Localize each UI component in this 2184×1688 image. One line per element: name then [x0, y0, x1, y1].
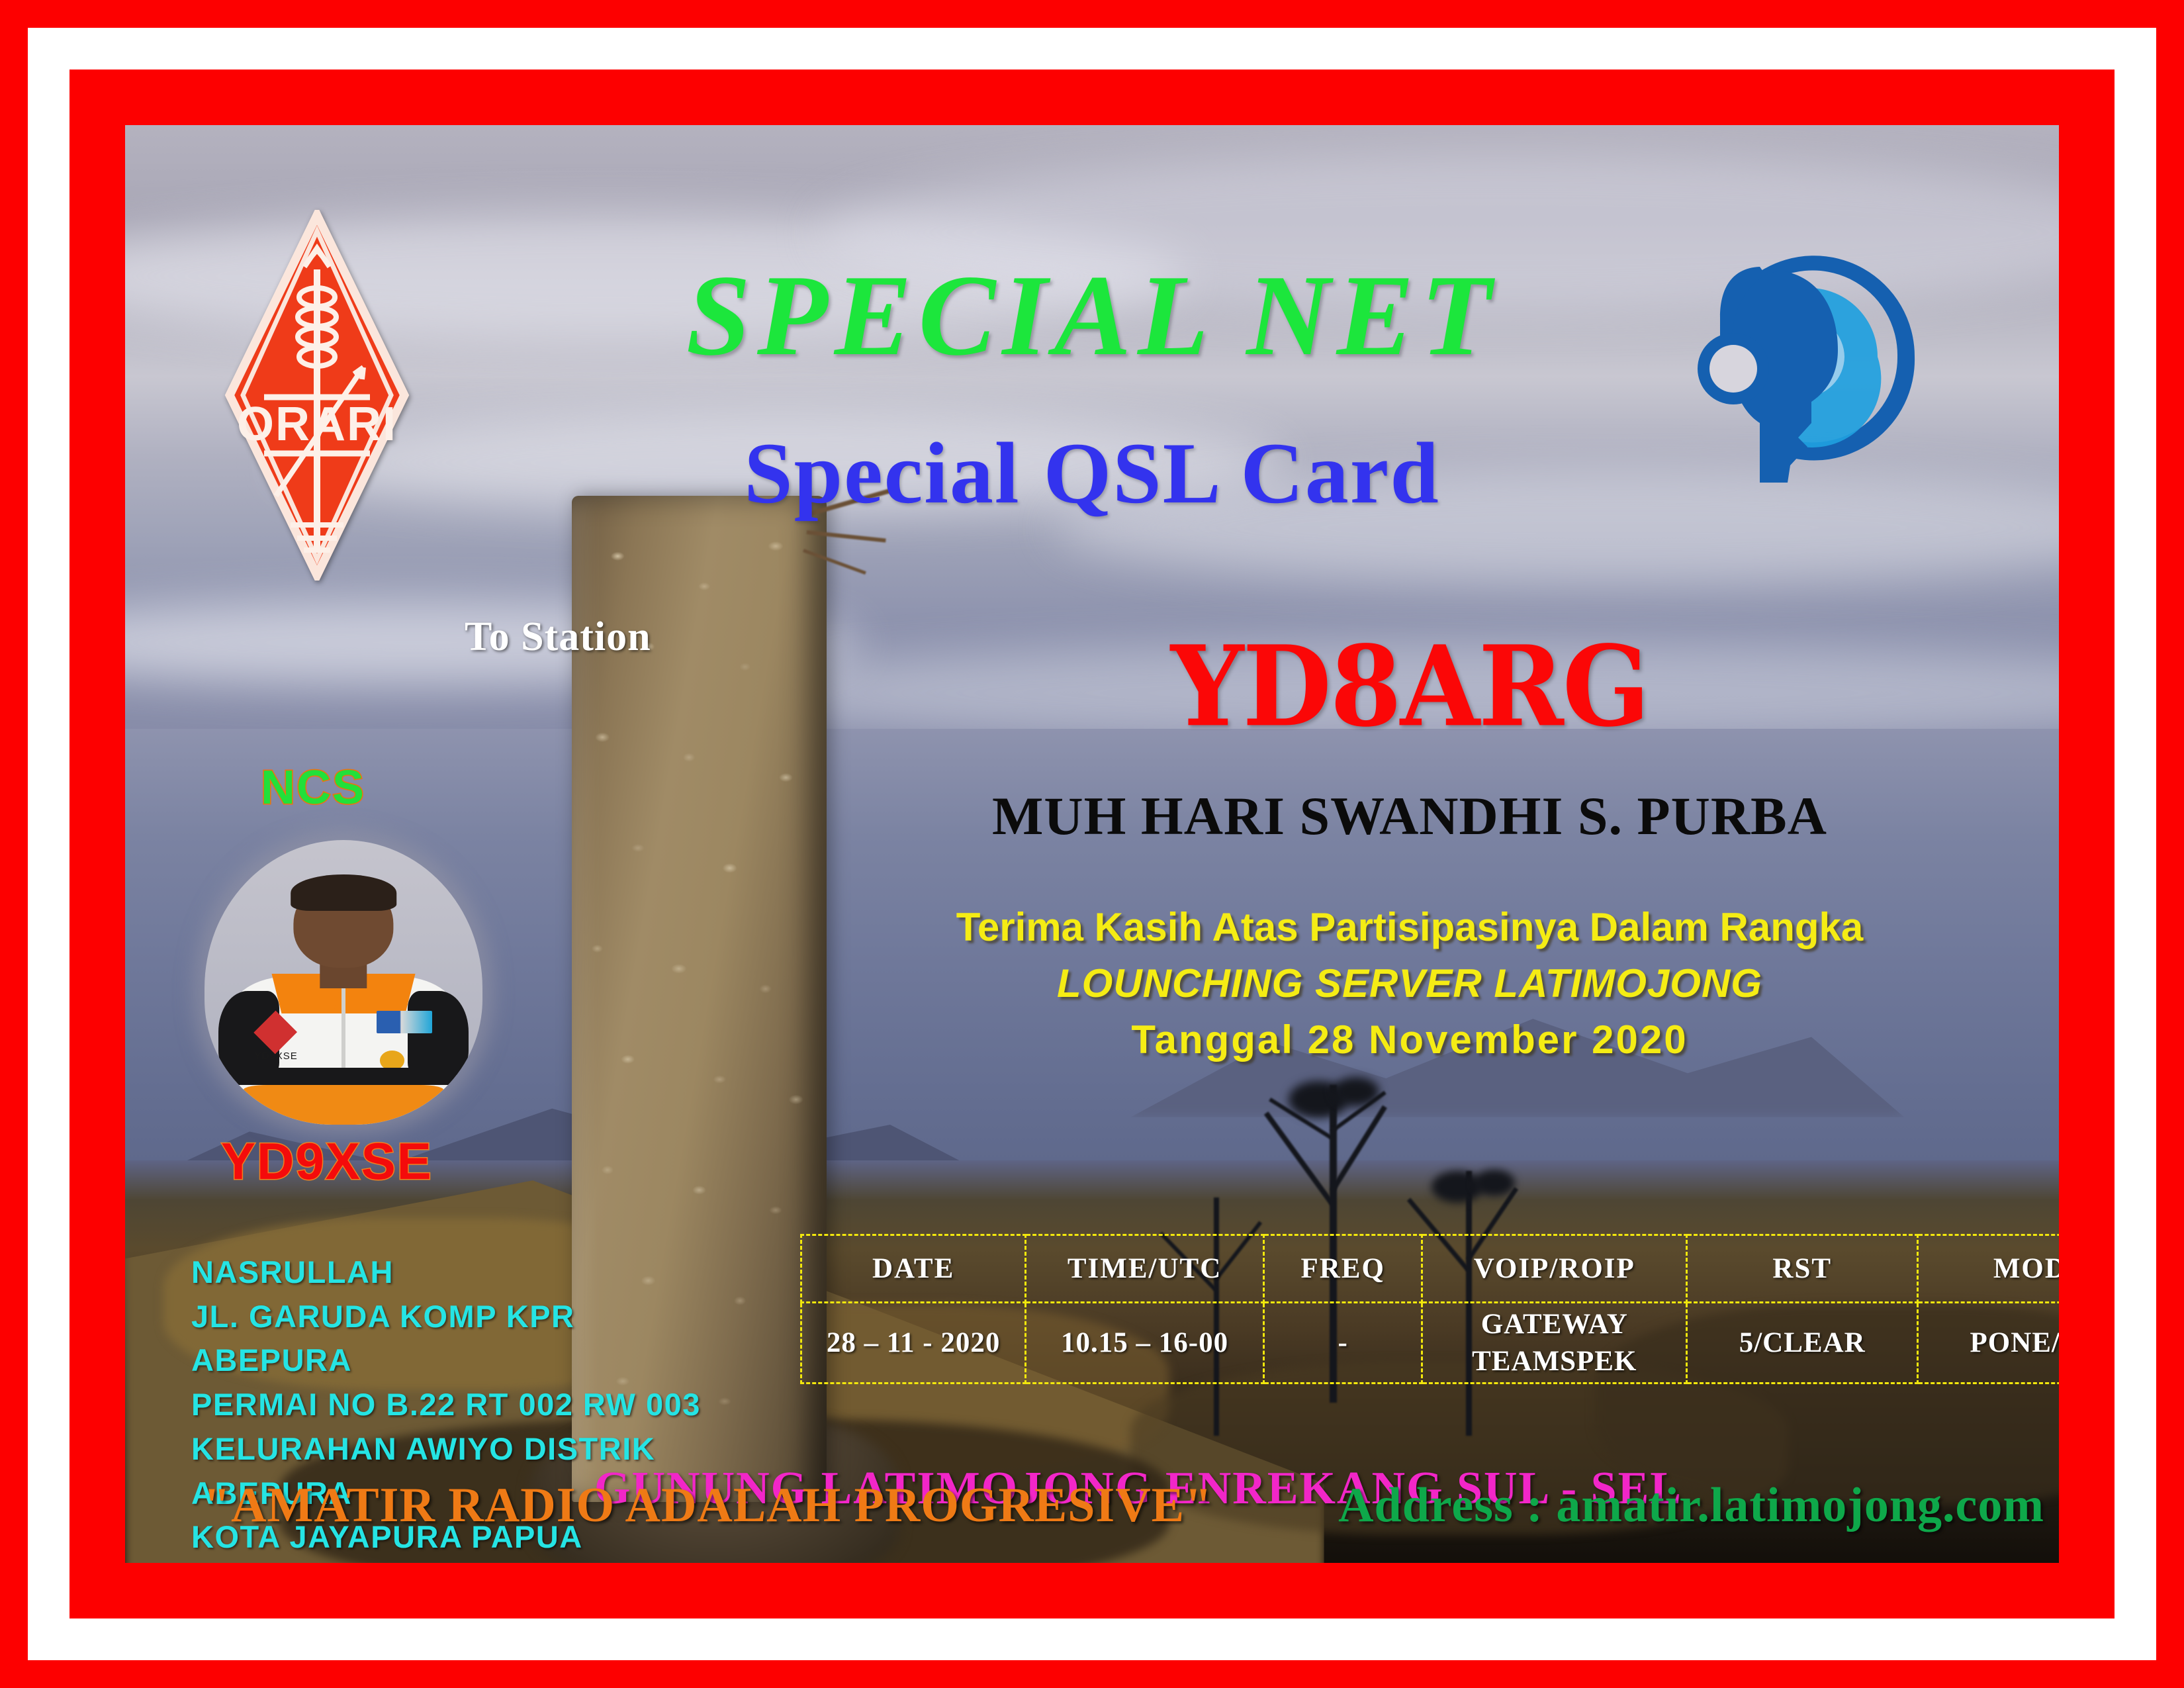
page-title: SPECIAL NET — [125, 258, 2059, 373]
thanks-line-1: Terima Kasih Atas Partisipasinya Dalam R… — [800, 899, 2019, 955]
page-subtitle: Special QSL Card — [125, 430, 2059, 517]
portrait-placket — [341, 988, 346, 1074]
card-inner-border: ORARI SPECIAL — [69, 70, 2115, 1618]
portrait-shoulder-right — [408, 991, 469, 1076]
column-header-voip-roip: VOIP/ROIP — [1422, 1235, 1687, 1303]
portrait-uniform-callsign: YD9XSE — [255, 1051, 298, 1062]
column-header-mode: MODE — [1918, 1235, 2059, 1303]
cell-voip-line-1: GATEWAY — [1423, 1306, 1686, 1342]
portrait-badge-patch — [377, 1011, 432, 1033]
qso-log-table: DATE TIME/UTC FREQ VOIP/ROIP RST MODE 28… — [800, 1234, 2059, 1384]
card-white-gap: ORARI SPECIAL — [28, 28, 2156, 1660]
cell-voip-line-2: TEAMSPEK — [1423, 1343, 1686, 1380]
address-line: NASRULLAH — [191, 1250, 701, 1295]
footer-web-address: Address : amatir.latimojong.com — [1338, 1477, 2044, 1534]
ncs-callsign: YD9XSE — [221, 1131, 433, 1192]
cell-rst: 5/CLEAR — [1686, 1303, 1917, 1383]
cell-mode: PONE/CW — [1918, 1303, 2059, 1383]
thanks-line-2: LOUNCHING SERVER LATIMOJONG — [800, 955, 2019, 1011]
address-line: ABEPURA — [191, 1338, 701, 1383]
column-header-date: DATE — [801, 1235, 1026, 1303]
column-header-freq: FREQ — [1263, 1235, 1422, 1303]
qsl-card: ORARI SPECIAL — [125, 125, 2059, 1563]
card-outer-border: ORARI SPECIAL — [0, 0, 2184, 1688]
table-row: 28 – 11 - 2020 10.15 – 16-00 - GATEWAY T… — [801, 1303, 2060, 1383]
address-line: PERMAI NO B.22 RT 002 RW 003 — [191, 1383, 701, 1427]
thanks-message: Terima Kasih Atas Partisipasinya Dalam R… — [800, 899, 2019, 1068]
portrait-hair — [291, 874, 396, 912]
portrait-sash — [244, 1085, 443, 1125]
cell-date: 28 – 11 - 2020 — [801, 1303, 1026, 1383]
card-footer: "AMATIR RADIO ADALAH PROGRESIVE" Address… — [125, 1477, 2059, 1534]
ncs-label: NCS — [261, 761, 365, 815]
operator-name: MUH HARI SWANDHI S. PURBA — [800, 789, 2019, 843]
thanks-line-3: Tanggal 28 November 2020 — [800, 1011, 2019, 1068]
portrait-stripe — [230, 1068, 457, 1085]
cell-time: 10.15 – 16-00 — [1026, 1303, 1264, 1383]
station-details: YD8ARG MUH HARI SWANDHI S. PURBA Terima … — [800, 635, 2019, 1068]
table-header-row: DATE TIME/UTC FREQ VOIP/ROIP RST MODE — [801, 1235, 2060, 1303]
to-station-label: To Station — [465, 614, 651, 661]
station-callsign: YD8ARG — [800, 631, 2019, 741]
column-header-time: TIME/UTC — [1026, 1235, 1264, 1303]
footer-slogan: "AMATIR RADIO ADALAH PROGRESIVE" — [203, 1477, 1212, 1534]
cell-voip-roip: GATEWAY TEAMSPEK — [1422, 1303, 1687, 1383]
column-header-rst: RST — [1686, 1235, 1917, 1303]
cell-freq: - — [1263, 1303, 1422, 1383]
operator-portrait-photo: YD9XSE — [205, 840, 482, 1125]
address-line: JL. GARUDA KOMP KPR — [191, 1295, 701, 1339]
